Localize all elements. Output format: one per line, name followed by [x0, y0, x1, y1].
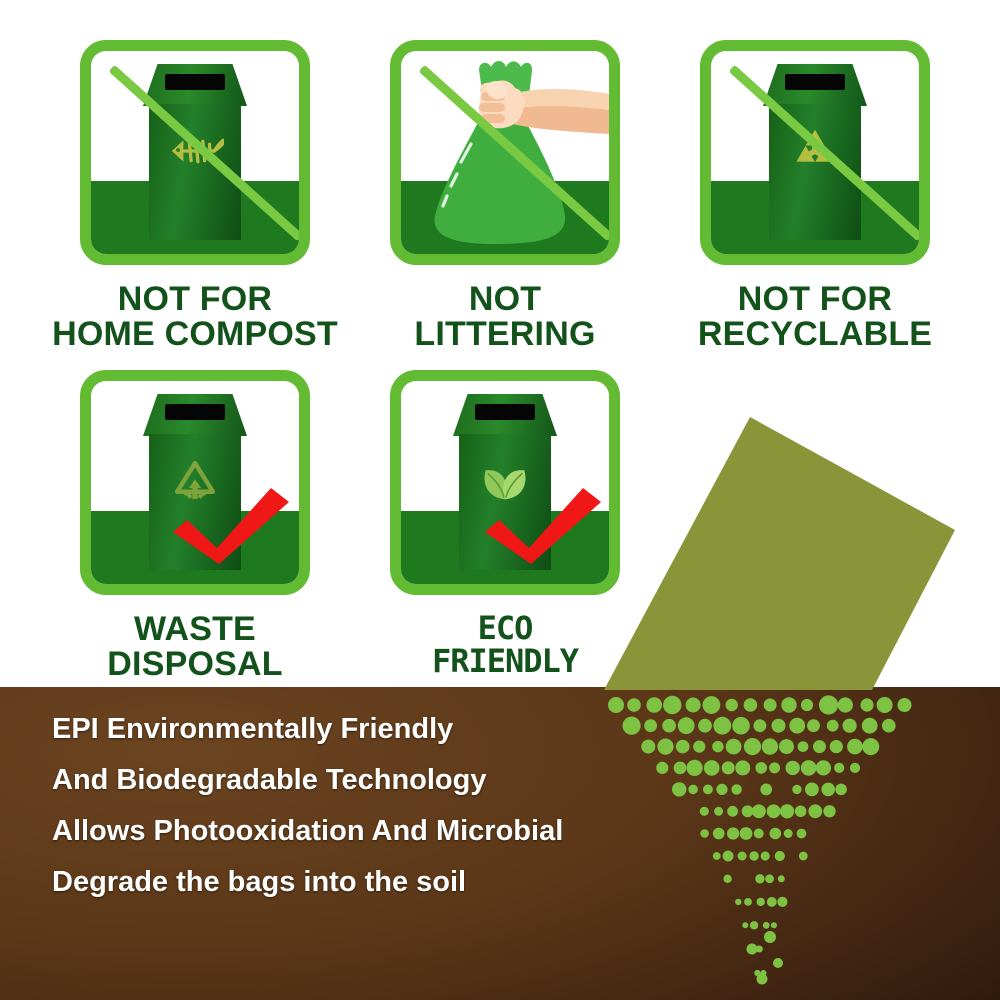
bin-slot: [475, 404, 535, 420]
trash-bin: [143, 64, 247, 240]
caption-line-1: ECO: [355, 612, 655, 645]
icon-caption: NOT LITTERING: [355, 282, 655, 351]
icon-frame: [80, 40, 310, 265]
icon-eco-friendly[interactable]: ECO FRIENDLY: [355, 370, 655, 690]
soil-banner: EPI Environmentally Friendly And Biodegr…: [0, 687, 1000, 1000]
checkmark-icon: [483, 486, 603, 566]
bin-slot: [165, 74, 225, 90]
icon-caption: NOT FOR HOME COMPOST: [45, 282, 345, 351]
infographic-page: NOT FOR HOME COMPOST: [0, 0, 1000, 1000]
icon-frame: [80, 370, 310, 595]
caption-line-1: WASTE: [45, 612, 345, 647]
caption-line-1: NOT: [355, 282, 655, 317]
caption-line-2: RECYCLABLE: [665, 317, 965, 352]
bin-slot: [785, 74, 845, 90]
banner-line-1: EPI Environmentally Friendly: [52, 715, 563, 744]
bin-slot: [165, 404, 225, 420]
caption-line-2: LITTERING: [355, 317, 655, 352]
checkmark-icon: [171, 486, 291, 566]
trash-bin: [763, 64, 867, 240]
banner-text: EPI Environmentally Friendly And Biodegr…: [52, 715, 563, 919]
icon-frame: [390, 40, 620, 265]
icon-caption: NOT FOR RECYCLABLE: [665, 282, 965, 351]
caption-line-2: FRIENDLY: [355, 645, 655, 678]
hand-holding-bag-icon: [401, 58, 609, 248]
icon-not-for-recyclable[interactable]: NOT FOR RECYCLABLE: [665, 40, 965, 360]
icon-caption: ECO FRIENDLY: [355, 612, 655, 677]
icon-grid: NOT FOR HOME COMPOST: [0, 0, 1000, 687]
caption-line-1: NOT FOR: [665, 282, 965, 317]
caption-line-2: HOME COMPOST: [45, 317, 345, 352]
caption-line-1: NOT FOR: [45, 282, 345, 317]
banner-line-4: Degrade the bags into the soil: [52, 868, 563, 897]
icon-frame: [390, 370, 620, 595]
icon-frame: [700, 40, 930, 265]
banner-line-3: Allows Photooxidation And Microbial: [52, 817, 563, 846]
icon-waste-disposal[interactable]: WASTE DISPOSAL: [45, 370, 345, 690]
icon-not-littering[interactable]: NOT LITTERING: [355, 40, 655, 360]
caption-line-2: DISPOSAL: [45, 647, 345, 682]
recycle-icon: [786, 126, 844, 176]
fishbone-icon: [166, 126, 224, 176]
icon-caption: WASTE DISPOSAL: [45, 612, 345, 681]
icon-not-for-home-compost[interactable]: NOT FOR HOME COMPOST: [45, 40, 345, 360]
banner-line-2: And Biodegradable Technology: [52, 766, 563, 795]
